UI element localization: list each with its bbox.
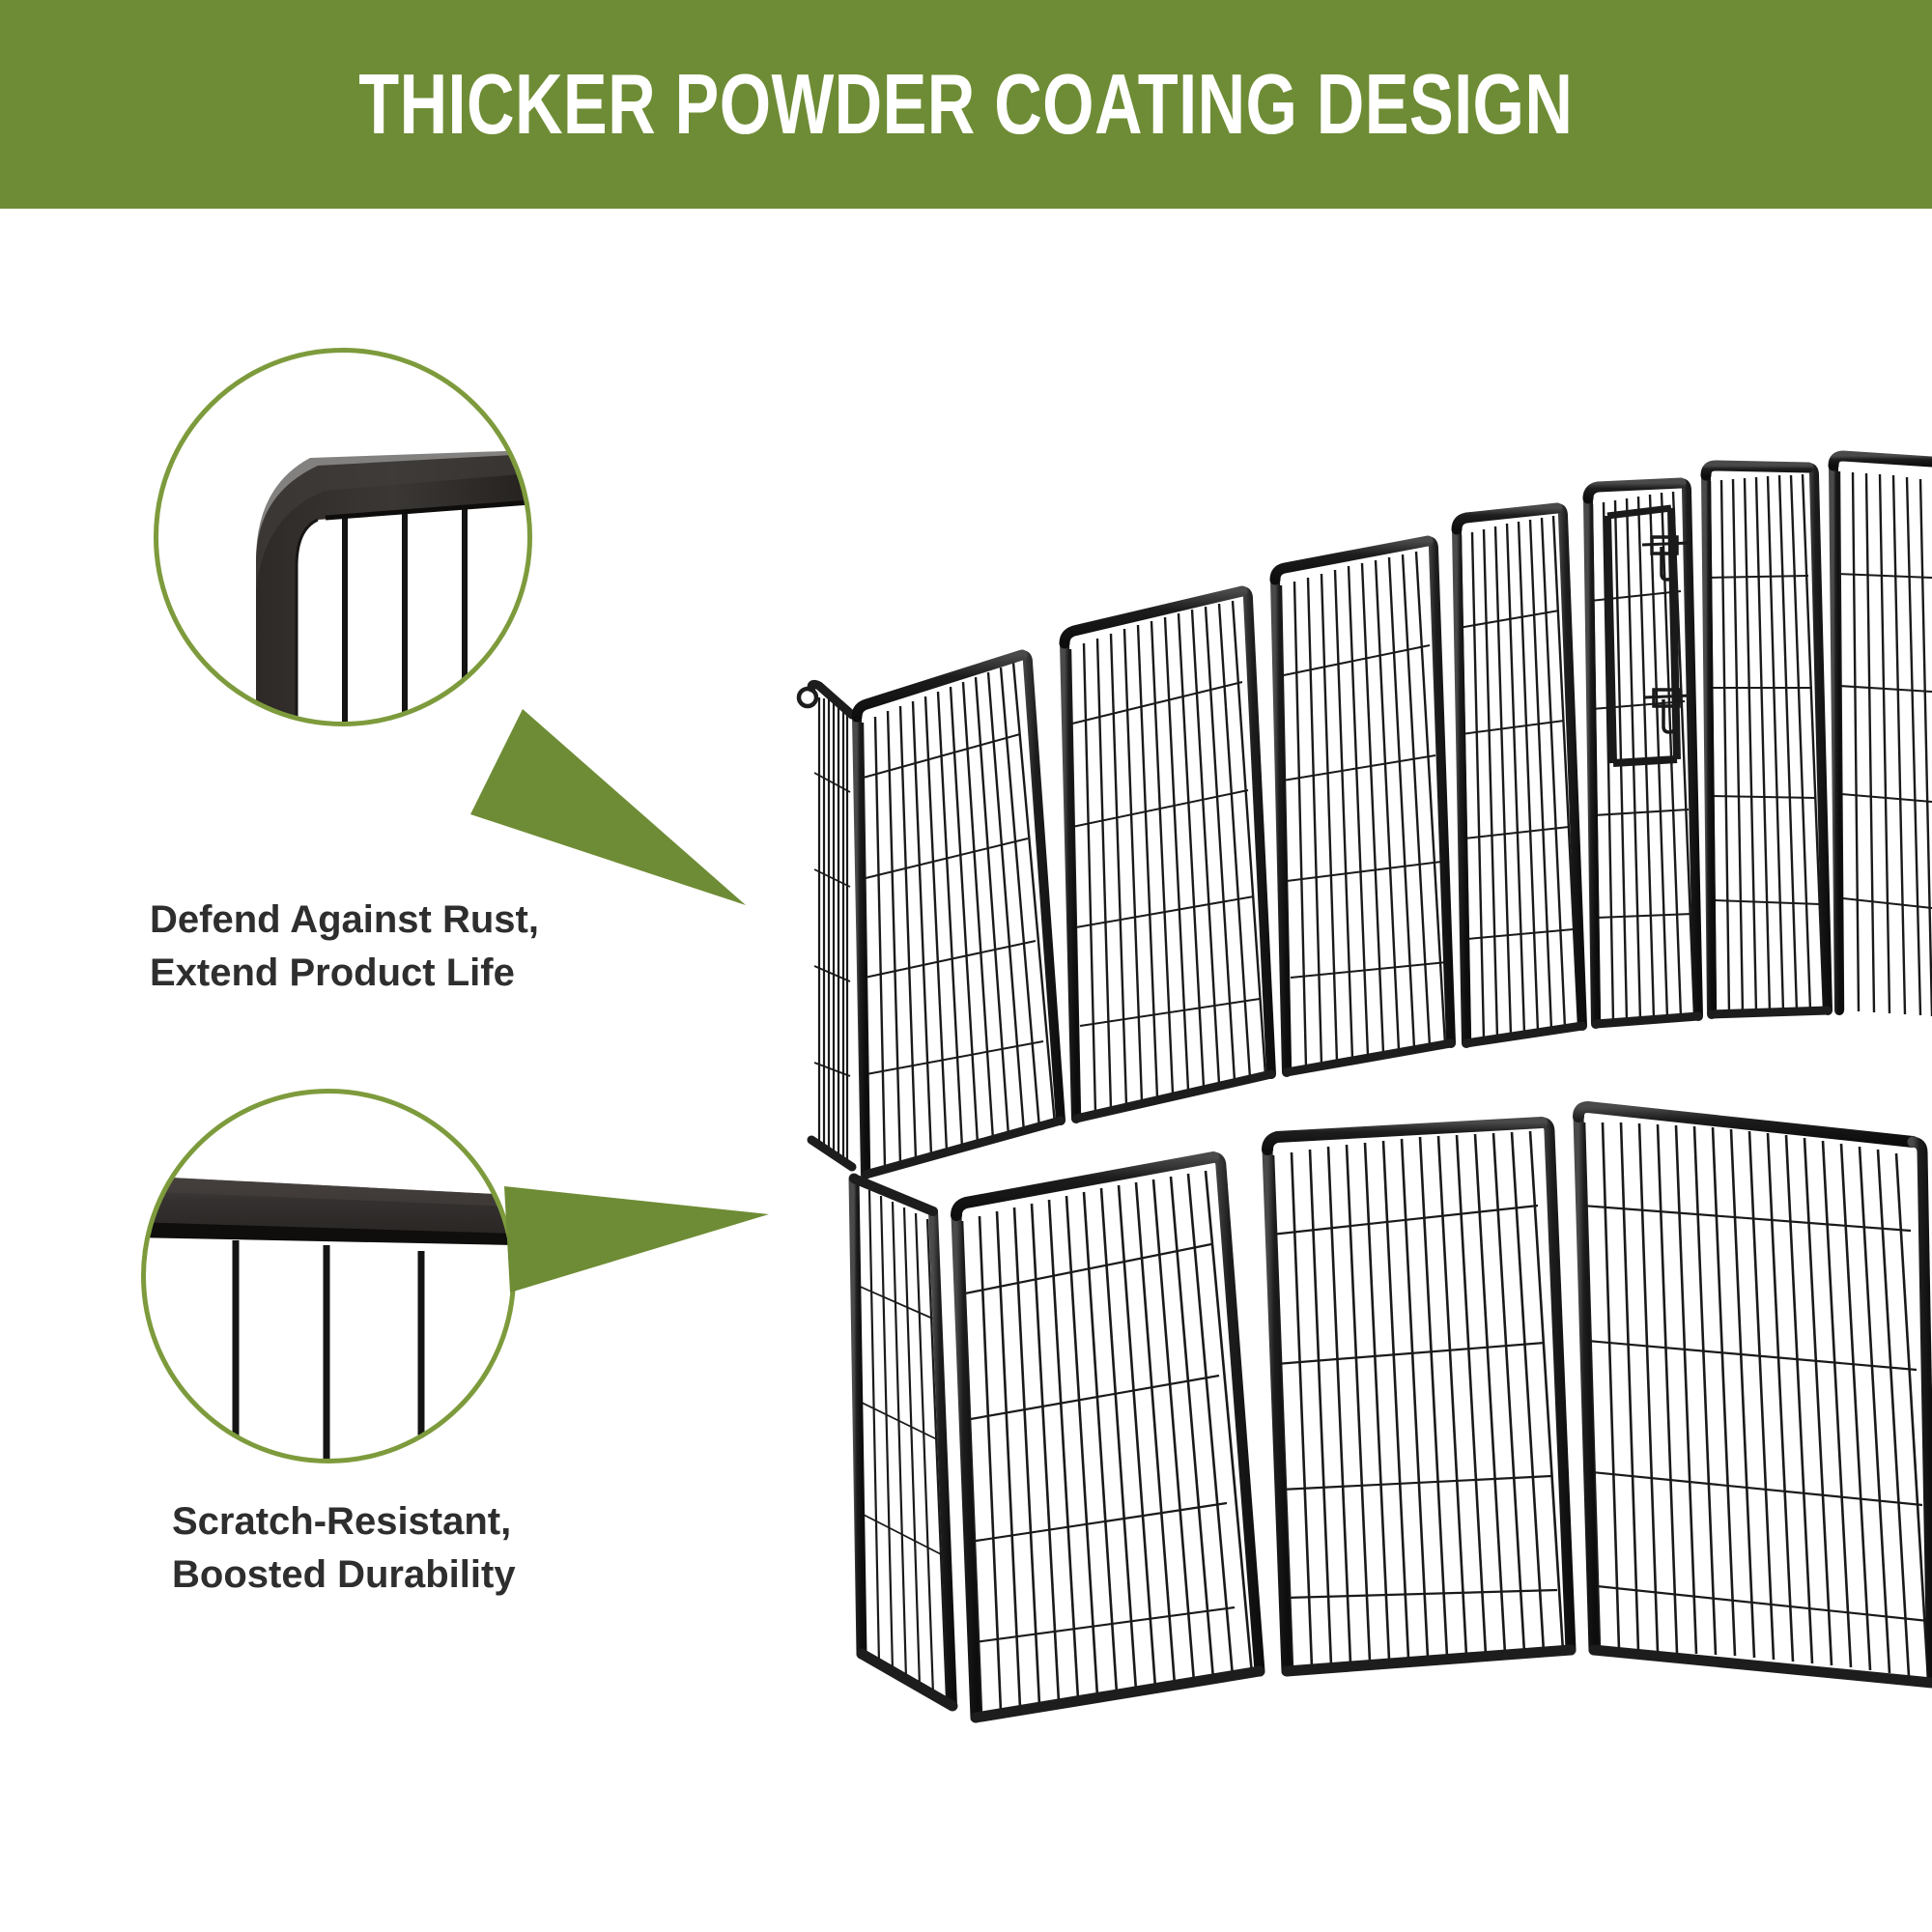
callout-pointer-triangle <box>504 1186 769 1293</box>
callout-pointers <box>0 0 1932 1932</box>
callout-pointer-triangle <box>470 709 746 905</box>
infographic-page: THICKER POWDER COATING DESIGN <box>0 0 1932 1932</box>
